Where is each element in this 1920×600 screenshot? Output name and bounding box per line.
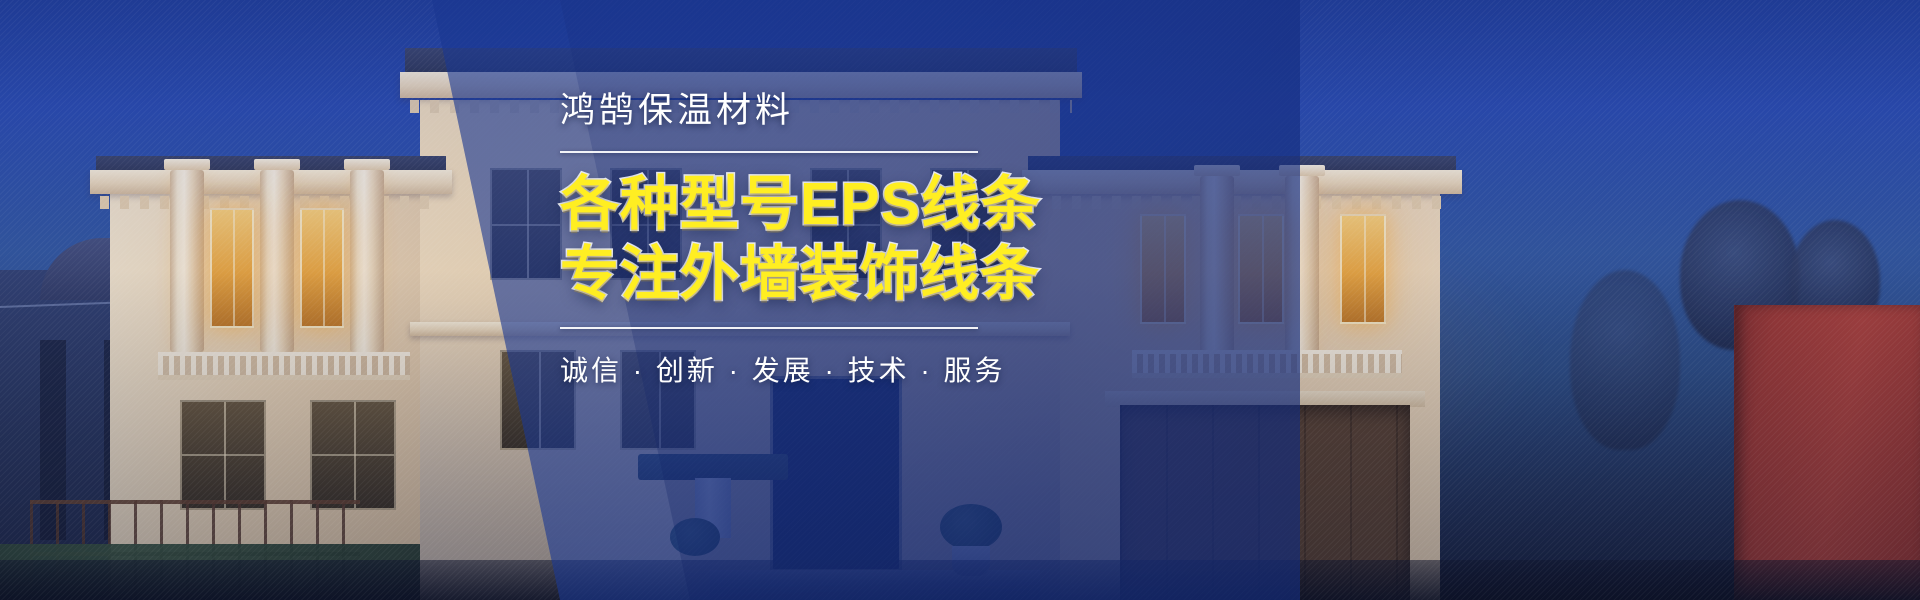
column-capital bbox=[344, 159, 390, 170]
divider-bottom bbox=[560, 327, 978, 329]
window-box-planter bbox=[638, 454, 788, 480]
window-mullion bbox=[323, 210, 325, 326]
window bbox=[310, 400, 396, 510]
headline-line-2: 专注外墙装饰线条 bbox=[560, 239, 1320, 309]
column bbox=[350, 170, 384, 352]
red-container bbox=[1735, 305, 1920, 600]
column-capital bbox=[254, 159, 300, 170]
foreground-ground bbox=[0, 560, 1920, 600]
shrub bbox=[670, 518, 720, 556]
window-lit bbox=[300, 208, 344, 328]
banner-content: 鸿鹄保温材料 各种型号EPS线条 专注外墙装饰线条 诚信 · 创新 · 发展 ·… bbox=[560, 92, 1320, 389]
entrance-door bbox=[770, 376, 902, 572]
column-capital bbox=[164, 159, 210, 170]
headline-line-1: 各种型号EPS线条 bbox=[560, 169, 1320, 239]
roof-center bbox=[405, 48, 1077, 74]
window bbox=[180, 400, 266, 510]
window-mullion bbox=[312, 454, 394, 456]
brand-name: 鸿鹄保温材料 bbox=[560, 92, 1320, 131]
tree bbox=[1570, 270, 1680, 450]
promo-banner: 鸿鹄保温材料 各种型号EPS线条 专注外墙装饰线条 诚信 · 创新 · 发展 ·… bbox=[0, 0, 1920, 600]
column bbox=[260, 170, 294, 352]
window-mullion bbox=[539, 352, 541, 448]
divider-top bbox=[560, 151, 978, 153]
window-lit bbox=[1340, 214, 1386, 324]
balustrade-left bbox=[158, 352, 410, 380]
column bbox=[170, 170, 204, 352]
window-mullion bbox=[233, 210, 235, 326]
shrub bbox=[940, 504, 1002, 550]
window-mullion bbox=[182, 454, 264, 456]
window-mullion bbox=[1364, 216, 1366, 322]
tagline: 诚信 · 创新 · 发展 · 技术 · 服务 bbox=[560, 349, 1320, 389]
window-lit bbox=[210, 208, 254, 328]
window-mullion bbox=[492, 224, 560, 226]
window bbox=[490, 168, 562, 280]
